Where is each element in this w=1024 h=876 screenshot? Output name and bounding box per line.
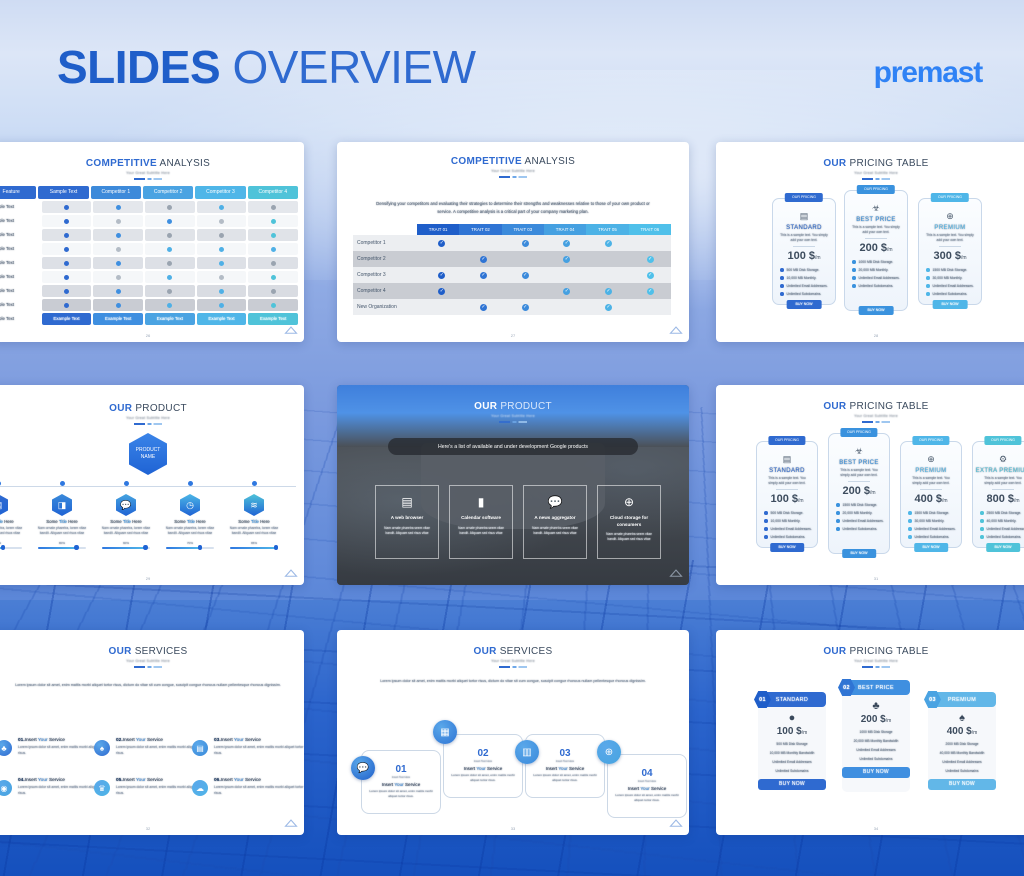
plan-feature-item: 2000 MB Disk Storage bbox=[928, 742, 996, 746]
progress-knob[interactable] bbox=[274, 545, 278, 549]
timeline-node bbox=[252, 481, 257, 486]
status-dot bbox=[116, 303, 121, 308]
product-item-text: Nam ornate pharetra, lorem vitae bandit.… bbox=[34, 526, 90, 537]
table-row: Sample Text bbox=[0, 201, 298, 213]
check-icon: ✓ bbox=[647, 256, 654, 263]
plan-description: This is a sample text. You simply add yo… bbox=[757, 476, 817, 486]
trait-header-cell: TRAIT 06 bbox=[629, 224, 671, 235]
plan-feature-item: 20,000 MB Monthly Bandwidth bbox=[842, 739, 910, 743]
pricing-ribbon: OUR PRICING bbox=[785, 193, 823, 202]
feature-card-title: Calendar software bbox=[450, 515, 512, 522]
plan-feature-item: 10,000 MB Monthly. bbox=[764, 519, 817, 523]
service-card[interactable]: 03Insert Text HereInsert Your ServiceLor… bbox=[525, 734, 605, 798]
buy-now-button[interactable]: BUY NOW bbox=[842, 767, 910, 778]
product-item-percent: 70% bbox=[162, 541, 218, 545]
plan-feature-item: Unlimited Email Addresses bbox=[842, 748, 910, 752]
chat-icon: 💬 bbox=[351, 756, 375, 780]
matrix-row-label: Sample Text bbox=[0, 201, 40, 213]
product-name-hexagon: PRODUCT NAME bbox=[129, 433, 167, 475]
slide-pricing-table-numbered[interactable]: OUR PRICING TABLE Your Great Subtitle He… bbox=[716, 630, 1024, 835]
network-icon: ☣ bbox=[854, 446, 865, 457]
service-item[interactable]: ☁06.Insert Your ServiceLorem ipsum dolor… bbox=[214, 778, 304, 797]
buy-now-button[interactable]: BUY NOW bbox=[758, 779, 826, 790]
matrix-cell bbox=[145, 215, 195, 227]
matrix-cell bbox=[248, 229, 298, 241]
product-feature-card[interactable]: ⊕Cloud storage for consumersNam ornate p… bbox=[597, 485, 661, 559]
product-progress-bar[interactable] bbox=[230, 547, 278, 549]
plan-price: 300 $/m bbox=[919, 250, 981, 262]
service-card[interactable]: 02Insert Text HereInsert Your ServiceLor… bbox=[443, 734, 523, 798]
service-number: 03. bbox=[214, 738, 221, 743]
feature-bullet bbox=[908, 535, 912, 539]
matrix-cell bbox=[197, 285, 247, 297]
plan-feature-item: 2500 MB Disk Storage. bbox=[980, 511, 1024, 515]
matrix-cell bbox=[93, 215, 143, 227]
plan-period: /m bbox=[815, 255, 821, 261]
plan-period: /m bbox=[972, 730, 978, 736]
product-item-title: Some Title Here bbox=[0, 519, 26, 524]
slide5-subtitle: Your Great Subtitle Here bbox=[337, 414, 689, 418]
slide8-divider bbox=[499, 666, 527, 668]
example-text-button[interactable]: Example Text bbox=[42, 313, 92, 325]
timeline-node bbox=[188, 481, 193, 486]
slide3-subtitle: Your Great Subtitle Here bbox=[716, 171, 1024, 175]
trait-cell: ✓ bbox=[463, 304, 505, 311]
matrix-cell bbox=[145, 299, 195, 311]
product-item[interactable]: 💬Some Title HereNam ornate pharetra, lor… bbox=[98, 481, 154, 549]
service-card[interactable]: 01Insert Text HereInsert Your ServiceLor… bbox=[361, 750, 441, 814]
buy-now-button[interactable]: BUY NOW bbox=[928, 779, 996, 790]
product-item[interactable]: ▤Some Title HereNam ornate pharetra, lor… bbox=[0, 481, 26, 549]
status-dot bbox=[64, 247, 69, 252]
product-feature-card[interactable]: 💬A news aggregatorNam ornate pharetra se… bbox=[523, 485, 587, 559]
feature-label: 10,000 MB Monthly. bbox=[787, 276, 817, 280]
feature-label: 10,000 MB Monthly. bbox=[771, 519, 801, 523]
table-row: Sample Text bbox=[0, 271, 298, 283]
feature-label: Unlimited Email Addresses. bbox=[933, 284, 974, 288]
product-item-title: Some Title Here bbox=[34, 519, 90, 524]
pricing-card[interactable]: OUR PRICING☣BEST PRICEThis is a sample t… bbox=[828, 433, 890, 554]
feature-bullet bbox=[780, 292, 784, 296]
slide2-divider bbox=[499, 176, 527, 178]
matrix-cell bbox=[145, 243, 195, 255]
status-dot bbox=[219, 247, 224, 252]
feature-label: 20,000 MB Monthly. bbox=[859, 268, 889, 272]
feature-label: Unlimited Subdomains. bbox=[843, 527, 878, 531]
plan-features: 500 MB Disk Storage.10,000 MB Monthly.Un… bbox=[764, 511, 817, 539]
trait-header-row: TRAIT 01TRAIT 02TRAIT 03TRAIT 04TRAIT 05… bbox=[353, 224, 671, 235]
feature-label: Unlimited Email Addresses. bbox=[915, 527, 956, 531]
slide-competitive-analysis-matrix[interactable]: COMPETITIVE ANALYSIS Your Great Subtitle… bbox=[0, 142, 304, 342]
slide8-title: OUR SERVICES bbox=[337, 646, 689, 657]
premast-watermark-icon bbox=[284, 568, 298, 579]
plan-features: 500 MB Disk Storage.10,000 MB Monthly.Un… bbox=[780, 268, 835, 296]
server-icon: ▤ bbox=[799, 211, 810, 222]
trait-cell: ✓ bbox=[588, 240, 630, 247]
plan-feature-item: Unlimited Email Addresses. bbox=[926, 284, 981, 288]
plan-feature-item: 40,000 MB Monthly. bbox=[980, 519, 1024, 523]
plan-feature-item: Unlimited Email Addresses. bbox=[908, 527, 961, 531]
slide7-title: OUR SERVICES bbox=[0, 646, 304, 657]
feature-card-title: Cloud storage for consumers bbox=[598, 515, 660, 528]
product-item-percent: 95% bbox=[226, 541, 282, 545]
plan-name: PREMIUM bbox=[901, 468, 961, 474]
competitive-matrix-table[interactable]: FeatureSample TextCompetitor 1Competitor… bbox=[0, 186, 298, 325]
matrix-cell bbox=[93, 257, 143, 269]
plan-divider bbox=[865, 238, 887, 239]
example-text-button[interactable]: Example Text bbox=[248, 313, 298, 325]
buy-now-button[interactable]: BUY NOW bbox=[986, 543, 1020, 552]
service-title: 06.Insert Your Service bbox=[214, 778, 304, 783]
table-row: Sample Text bbox=[0, 243, 298, 255]
buy-now-button[interactable]: BUY NOW bbox=[933, 300, 968, 309]
status-dot bbox=[167, 261, 172, 266]
product-item-title: Some Title Here bbox=[98, 519, 154, 524]
table-row: Sample Text bbox=[0, 229, 298, 241]
product-item[interactable]: ◷Some Title HereNam ornate pharetra, lor… bbox=[162, 481, 218, 549]
product-feature-card[interactable]: ▤A web browserNam ornate pharetra seem v… bbox=[375, 485, 439, 559]
pricing-card[interactable]: 03PREMIUM♠400 $/m2000 MB Disk Storage40,… bbox=[928, 692, 996, 790]
plan-price: 200 $/m bbox=[842, 714, 910, 725]
matrix-cell bbox=[197, 201, 247, 213]
matrix-cell bbox=[93, 243, 143, 255]
status-dot bbox=[219, 233, 224, 238]
plan-feature-item: 1000 MB Disk Storage. bbox=[852, 260, 907, 264]
premast-watermark-icon bbox=[669, 325, 683, 336]
product-feature-card[interactable]: ▮Calendar softwareNam ornate pharetra se… bbox=[449, 485, 513, 559]
status-dot bbox=[271, 261, 276, 266]
status-dot bbox=[64, 261, 69, 266]
feature-bullet bbox=[926, 284, 930, 288]
service-text: Lorem ipsum dolor sit amet, enim mattis … bbox=[214, 745, 304, 757]
trait-cell: ✓ bbox=[629, 288, 671, 295]
slide9-divider bbox=[862, 666, 890, 668]
slide3-page-number: 28 bbox=[716, 333, 1024, 338]
product-item-text: Nam ornate pharetra, lorem vitae bandit.… bbox=[98, 526, 154, 537]
premast-watermark-icon bbox=[284, 325, 298, 336]
slide-our-services-four[interactable]: OUR SERVICES Your Great Subtitle Here Lo… bbox=[337, 630, 689, 835]
group-icon: ♠ bbox=[94, 740, 110, 756]
gear-icon: ⚙ bbox=[998, 454, 1009, 465]
pricing-ribbon: OUR PRICING bbox=[931, 193, 969, 202]
feature-label: 40,000 MB Monthly. bbox=[987, 519, 1017, 523]
table-row: Competitor 1✓✓✓✓ bbox=[353, 235, 671, 251]
matrix-cell bbox=[93, 285, 143, 297]
pricing-card[interactable]: 02BEST PRICE♣200 $/m1000 MB Disk Storage… bbox=[842, 680, 910, 792]
matrix-row-label: Sample Text bbox=[0, 313, 40, 325]
matrix-cell bbox=[145, 271, 195, 283]
buy-now-button[interactable]: BUY NOW bbox=[770, 543, 804, 552]
plan-period: /m bbox=[870, 490, 876, 496]
slide-our-product-dark[interactable]: OUR PRODUCT Your Great Subtitle Here Her… bbox=[337, 385, 689, 585]
product-progress-bar[interactable] bbox=[0, 547, 22, 549]
feature-label: Unlimited Subdomains. bbox=[771, 535, 806, 539]
progress-fill bbox=[230, 547, 276, 549]
slide1-title: COMPETITIVE ANALYSIS bbox=[0, 158, 304, 169]
premast-watermark-icon bbox=[669, 568, 683, 579]
slide-our-product-timeline[interactable]: OUR PRODUCT Your Great Subtitle Here PRO… bbox=[0, 385, 304, 585]
feature-label: 2500 MB Disk Storage. bbox=[987, 511, 1022, 515]
buy-now-button[interactable]: BUY NOW bbox=[842, 549, 876, 558]
feature-label: 1500 MB Disk Storage. bbox=[915, 511, 950, 515]
table-row: Competitor 4✓✓✓✓ bbox=[353, 283, 671, 299]
feature-label: 30,000 MB Monthly. bbox=[933, 276, 963, 280]
feature-bullet bbox=[836, 511, 840, 515]
feature-bullet bbox=[926, 276, 930, 280]
progress-knob[interactable] bbox=[1, 545, 5, 549]
matrix-header-cell: Competitor 3 bbox=[195, 186, 245, 199]
check-icon: ✓ bbox=[438, 288, 445, 295]
progress-knob[interactable] bbox=[198, 545, 202, 549]
check-icon: ✓ bbox=[522, 304, 529, 311]
plan-period: /m bbox=[798, 498, 804, 504]
product-item-title-accent: Title bbox=[0, 519, 3, 524]
service-card-title: Insert Your Service bbox=[526, 766, 604, 771]
example-text-button[interactable]: Example Text bbox=[197, 313, 247, 325]
pricing-ribbon: OUR PRICING bbox=[840, 428, 877, 437]
product-item[interactable]: ≋Some Title HereNam ornate pharetra, lor… bbox=[226, 481, 282, 549]
service-item[interactable]: ▤03.Insert Your ServiceLorem ipsum dolor… bbox=[214, 738, 304, 757]
plan-number: 03 bbox=[924, 691, 941, 708]
service-card-number: 04 bbox=[608, 768, 686, 779]
slide2-title: COMPETITIVE ANALYSIS bbox=[337, 156, 689, 167]
slide7-paragraph: Lorem ipsum dolor sit amet, enim mattis … bbox=[12, 682, 284, 689]
feature-bullet bbox=[980, 519, 984, 523]
feature-bullet bbox=[764, 535, 768, 539]
service-number: 02. bbox=[116, 738, 123, 743]
matrix-cell bbox=[93, 299, 143, 311]
feature-label: Unlimited Email Addresses. bbox=[771, 527, 812, 531]
plan-divider bbox=[939, 246, 961, 247]
plan-header: 01STANDARD bbox=[758, 692, 826, 707]
slide-our-services-six[interactable]: OUR SERVICES Your Great Subtitle Here Lo… bbox=[0, 630, 304, 835]
feature-label: 1500 MB Disk Storage. bbox=[933, 268, 968, 272]
check-icon: ✓ bbox=[480, 256, 487, 263]
feature-label: Unlimited Email Addresses. bbox=[843, 519, 884, 523]
progress-knob[interactable] bbox=[74, 545, 78, 549]
plan-header: 02BEST PRICE bbox=[842, 680, 910, 695]
trait-matrix-table[interactable]: TRAIT 01TRAIT 02TRAIT 03TRAIT 04TRAIT 05… bbox=[353, 224, 671, 315]
service-card-mini: Insert Text Here bbox=[362, 776, 440, 779]
status-dot bbox=[64, 233, 69, 238]
plan-description: This is a sample text. You simply add yo… bbox=[973, 476, 1024, 486]
slide6-page-number: 31 bbox=[716, 576, 1024, 581]
matrix-cell bbox=[42, 243, 92, 255]
pricing-card[interactable]: OUR PRICING▤STANDARDThis is a sample tex… bbox=[772, 198, 836, 305]
premast-logo: premast bbox=[874, 56, 982, 90]
slide5-divider bbox=[499, 421, 527, 423]
buy-now-button[interactable]: BUY NOW bbox=[859, 306, 894, 315]
slide3-divider bbox=[862, 178, 890, 180]
feature-card-text: Nam ornate pharetra seem vitae bandit. A… bbox=[450, 526, 512, 536]
matrix-cell bbox=[248, 243, 298, 255]
matrix-cell bbox=[197, 299, 247, 311]
slide7-page-number: 32 bbox=[0, 826, 304, 831]
matrix-cell bbox=[42, 299, 92, 311]
bag-icon: ▥ bbox=[515, 740, 539, 764]
plan-price: 100 $/m bbox=[757, 493, 817, 505]
status-dot bbox=[116, 275, 121, 280]
matrix-cell bbox=[248, 215, 298, 227]
slide-pricing-table-three[interactable]: OUR PRICING TABLE Your Great Subtitle He… bbox=[716, 142, 1024, 342]
pricing-card[interactable]: OUR PRICING⊕PREMIUMThis is a sample text… bbox=[918, 198, 982, 305]
trait-header-cell: TRAIT 03 bbox=[502, 224, 544, 235]
plan-description: This is a sample text. You simply add yo… bbox=[829, 468, 889, 478]
pricing-card[interactable]: OUR PRICING⊕PREMIUMThis is a sample text… bbox=[900, 441, 962, 548]
feature-bullet bbox=[764, 527, 768, 531]
trait-header-cell: TRAIT 04 bbox=[544, 224, 586, 235]
check-icon: ✓ bbox=[480, 272, 487, 279]
service-card-title-accent: Your bbox=[640, 786, 649, 791]
feature-label: Unlimited Subdomains. bbox=[915, 535, 950, 539]
feature-bullet bbox=[836, 519, 840, 523]
globe-icon: ⊕ bbox=[597, 740, 621, 764]
matrix-cell bbox=[93, 229, 143, 241]
progress-knob[interactable] bbox=[143, 545, 147, 549]
service-title-accent: Your bbox=[136, 778, 146, 783]
plan-name: BEST PRICE bbox=[858, 685, 894, 691]
example-text-button[interactable]: Example Text bbox=[145, 313, 195, 325]
plan-divider bbox=[920, 489, 942, 490]
trait-cell: ✓ bbox=[421, 240, 463, 247]
slide-competitive-analysis-traits[interactable]: COMPETITIVE ANALYSIS Your Great Subtitle… bbox=[337, 142, 689, 342]
service-title: 03.Insert Your Service bbox=[214, 738, 304, 743]
competitor-name: New Organization bbox=[353, 304, 421, 310]
plan-feature-item: 30,000 MB Monthly. bbox=[926, 276, 981, 280]
feature-bullet bbox=[980, 527, 984, 531]
id-card-icon: ▤ bbox=[0, 494, 8, 516]
feature-label: 20,000 MB Monthly. bbox=[843, 511, 873, 515]
matrix-cell bbox=[248, 201, 298, 213]
example-text-button[interactable]: Example Text bbox=[93, 313, 143, 325]
trait-header-spacer bbox=[353, 224, 417, 235]
slide6-subtitle: Your Great Subtitle Here bbox=[716, 414, 1024, 418]
check-icon: ✓ bbox=[647, 288, 654, 295]
plan-divider bbox=[848, 481, 870, 482]
status-dot bbox=[271, 275, 276, 280]
product-item-text: Nam ornate pharetra, lorem vitae bandit.… bbox=[162, 526, 218, 537]
service-card[interactable]: 04Insert Text HereInsert Your ServiceLor… bbox=[607, 754, 687, 818]
globe-icon: ⊕ bbox=[926, 454, 937, 465]
product-progress-bar[interactable] bbox=[102, 547, 150, 549]
status-dot bbox=[271, 205, 276, 210]
status-dot bbox=[271, 219, 276, 224]
feature-label: Unlimited Subdomains. bbox=[987, 535, 1022, 539]
feature-card-text: Nam ornate pharetra seem vitae bandit. A… bbox=[376, 526, 438, 536]
product-item-title-accent: Title bbox=[59, 519, 67, 524]
plan-price: 800 $/m bbox=[973, 493, 1024, 505]
feature-bullet bbox=[908, 519, 912, 523]
trait-cell: ✓ bbox=[504, 240, 546, 247]
product-progress-bar[interactable] bbox=[166, 547, 214, 549]
pricing-ribbon: OUR PRICING bbox=[857, 185, 895, 194]
feature-bullet bbox=[908, 511, 912, 515]
competitor-name: Competitor 4 bbox=[353, 288, 421, 294]
pricing-card[interactable]: OUR PRICING☣BEST PRICEThis is a sample t… bbox=[844, 190, 908, 311]
progress-fill bbox=[102, 547, 145, 549]
product-item-title-accent: Title bbox=[187, 519, 195, 524]
buy-now-button[interactable]: BUY NOW bbox=[914, 543, 948, 552]
service-title-accent: Your bbox=[234, 738, 244, 743]
product-progress-bar[interactable] bbox=[38, 547, 86, 549]
medal-icon: ◉ bbox=[0, 780, 12, 796]
matrix-row-label: Sample Text bbox=[0, 299, 40, 311]
matrix-cell bbox=[197, 229, 247, 241]
slide3-title: OUR PRICING TABLE bbox=[716, 158, 1024, 169]
plan-feature-item: 500 MB Disk Storage. bbox=[780, 268, 835, 272]
clock-icon: ◷ bbox=[180, 494, 200, 516]
chat-icon: 💬 bbox=[524, 495, 586, 509]
pricing-card[interactable]: OUR PRICING▤STANDARDThis is a sample tex… bbox=[756, 441, 818, 548]
pricing-ribbon: OUR PRICING bbox=[768, 436, 805, 445]
matrix-cell bbox=[42, 271, 92, 283]
service-number: 06. bbox=[214, 778, 221, 783]
pricing-card[interactable]: OUR PRICING⚙EXTRA PREMIUMThis is a sampl… bbox=[972, 441, 1024, 548]
plan-description: This is a sample text. You simply add yo… bbox=[773, 233, 835, 243]
matrix-row-label: Sample Text bbox=[0, 271, 40, 283]
browser-icon: ▤ bbox=[376, 495, 438, 509]
matrix-cell bbox=[93, 201, 143, 213]
plan-number: 01 bbox=[754, 691, 771, 708]
matrix-cell bbox=[248, 271, 298, 283]
matrix-row-label: Sample Text bbox=[0, 229, 40, 241]
service-card-title: Insert Your Service bbox=[608, 786, 686, 791]
status-dot bbox=[219, 303, 224, 308]
status-dot bbox=[271, 233, 276, 238]
plan-period: /m bbox=[1014, 498, 1020, 504]
status-dot bbox=[167, 303, 172, 308]
feature-bullet bbox=[780, 276, 784, 280]
plan-description: This is a sample text. You simply add yo… bbox=[901, 476, 961, 486]
service-card-text: Lorem ipsum dolor sit amet, enim mattis … bbox=[526, 773, 604, 783]
trait-cell: ✓ bbox=[463, 256, 505, 263]
service-card-title: Insert Your Service bbox=[362, 782, 440, 787]
plan-price: 200 $/m bbox=[845, 242, 907, 254]
status-dot bbox=[219, 275, 224, 280]
feature-label: 500 MB Disk Storage. bbox=[771, 511, 804, 515]
slide2-page-number: 27 bbox=[337, 333, 689, 338]
product-item-percent: 90% bbox=[98, 541, 154, 545]
product-item-percent: 60% bbox=[0, 541, 26, 545]
trait-header-cell: TRAIT 05 bbox=[586, 224, 628, 235]
pricing-card[interactable]: 01STANDARD●100 $/m500 MB Disk Storage10,… bbox=[758, 692, 826, 790]
chart-icon: ◨ bbox=[52, 494, 72, 516]
service-number: 05. bbox=[116, 778, 123, 783]
service-card-mini: Insert Text Here bbox=[608, 780, 686, 783]
matrix-cell bbox=[248, 257, 298, 269]
product-item-title-accent: Title bbox=[251, 519, 259, 524]
product-item[interactable]: ◨Some Title HereNam ornate pharetra, lor… bbox=[34, 481, 90, 549]
feature-label: Unlimited Subdomains. bbox=[859, 284, 894, 288]
service-card-mini: Insert Text Here bbox=[526, 760, 604, 763]
timeline-node bbox=[124, 481, 129, 486]
plan-features: 1500 MB Disk Storage.30,000 MB Monthly.U… bbox=[926, 268, 981, 296]
status-dot bbox=[116, 261, 121, 266]
slide-pricing-table-four[interactable]: OUR PRICING TABLE Your Great Subtitle He… bbox=[716, 385, 1024, 585]
slide1-page-number: 26 bbox=[0, 333, 304, 338]
plan-period: /m bbox=[942, 498, 948, 504]
trait-cell: ✓ bbox=[588, 304, 630, 311]
status-dot bbox=[271, 289, 276, 294]
product-item-text: Nam ornate pharetra, lorem vitae bandit.… bbox=[0, 526, 26, 537]
feature-label: Unlimited Subdomains. bbox=[787, 292, 822, 296]
table-row: Sample Text bbox=[0, 215, 298, 227]
buy-now-button[interactable]: BUY NOW bbox=[787, 300, 822, 309]
premast-watermark-icon bbox=[284, 818, 298, 829]
plan-feature-item: Unlimited Subdomains. bbox=[780, 292, 835, 296]
plan-feature-item: 500 MB Disk Storage bbox=[758, 742, 826, 746]
globe-icon: ⊕ bbox=[598, 495, 660, 509]
